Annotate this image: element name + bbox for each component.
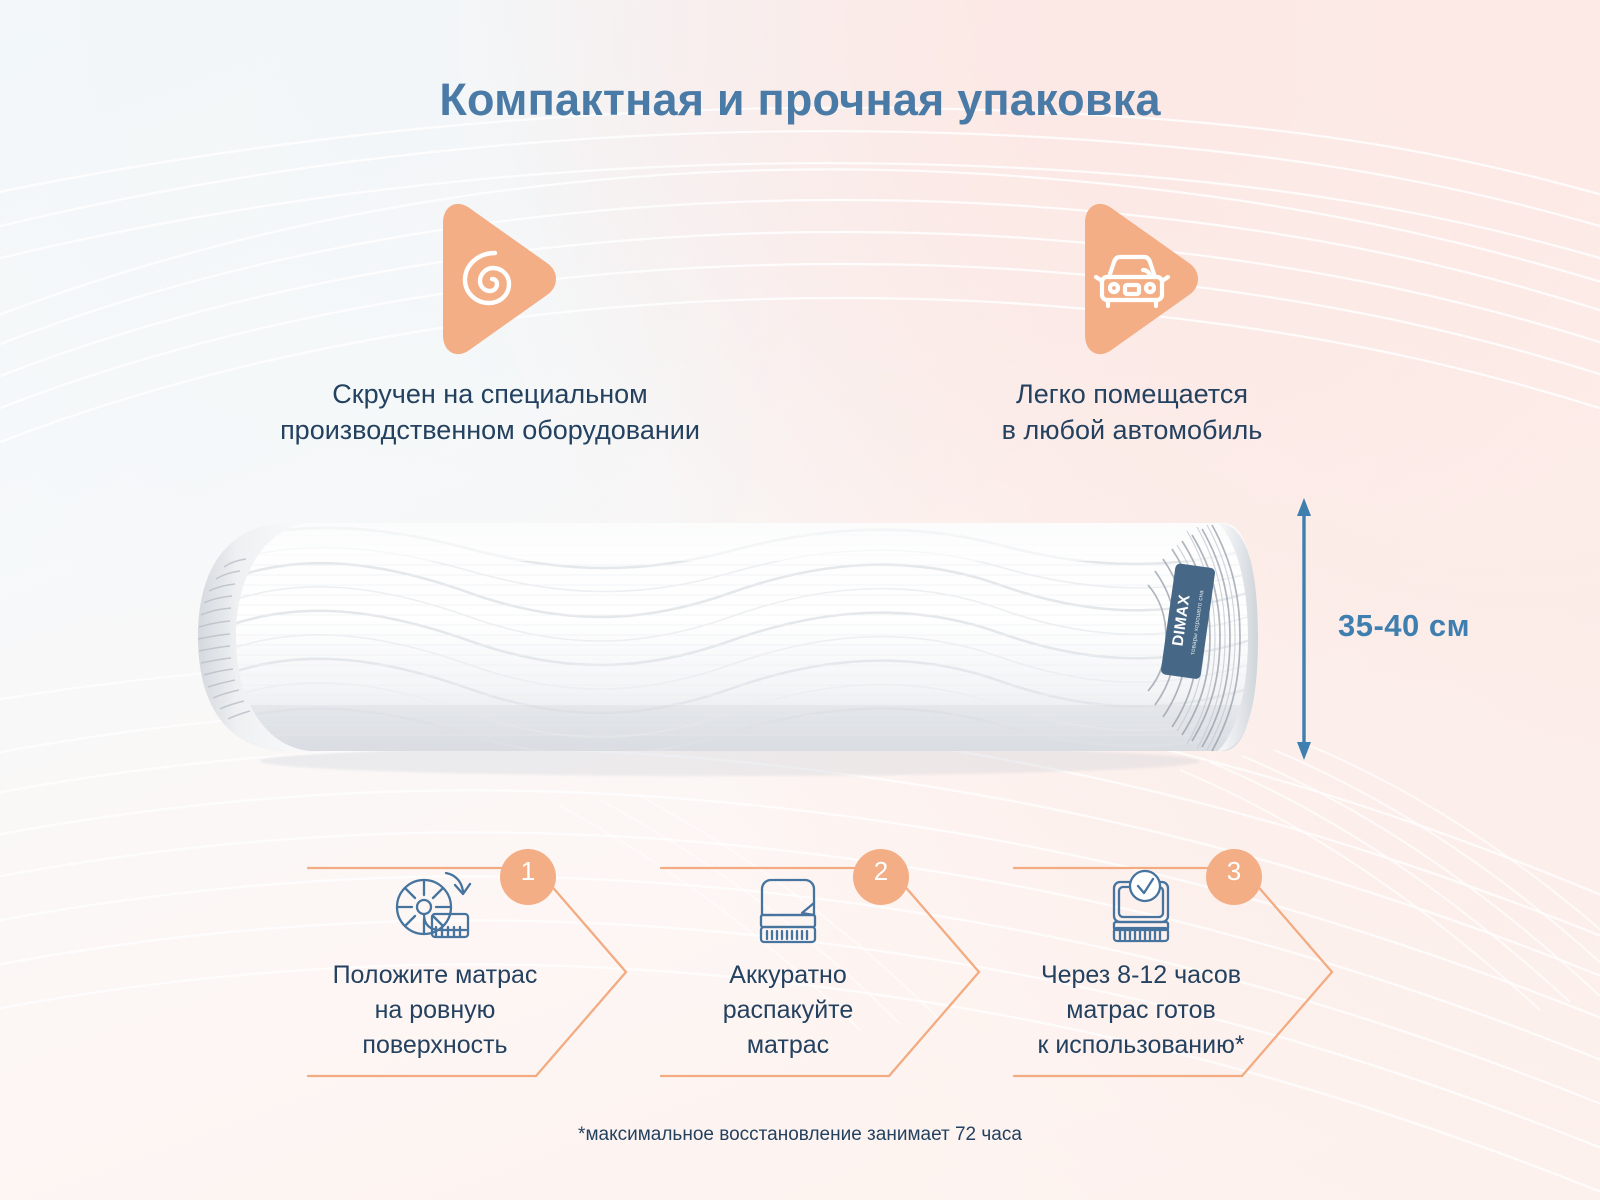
feature-block-car: Легко помещается в любой автомобиль xyxy=(930,196,1334,448)
mattress-unpack-icon xyxy=(653,868,923,950)
feature-caption: Скручен на специальном производственном … xyxy=(228,376,752,448)
dimension-arrow-icon xyxy=(1292,498,1316,760)
dimension-label: 35-40 см xyxy=(1338,608,1470,644)
footnote-text: *максимальное восстановление занимает 72… xyxy=(0,1124,1600,1146)
step-text: Положите матрас на ровную поверхность xyxy=(272,958,598,1063)
feature-icon-wrap xyxy=(930,196,1334,362)
step-card-1: 1 Положите матрас на ро xyxy=(300,846,640,1088)
feature-block-rolled: Скручен на специальном производственном … xyxy=(228,196,752,448)
step-card-2: 2 Аккуратно распакуйте матрас xyxy=(653,846,993,1088)
steps-row: 1 Положите матрас на ро xyxy=(300,846,1270,1088)
feature-caption: Легко помещается в любой автомобиль xyxy=(930,376,1334,448)
infographic-page: Компактная и прочная упаковка Скручен на… xyxy=(0,0,1600,1200)
rolled-mattress-unroll-icon xyxy=(300,868,570,950)
rolled-mattress-image: DIMAX товары хорошего сна xyxy=(170,495,1280,780)
page-title: Компактная и прочная упаковка xyxy=(0,74,1600,126)
car-front-icon xyxy=(1059,201,1205,357)
step-text: Через 8-12 часов матрас готов к использо… xyxy=(978,958,1304,1063)
step-card-3: 3 Через 8-12 часов матрас готов к исполь… xyxy=(1006,846,1346,1088)
spiral-roll-icon xyxy=(417,201,563,357)
mattress-check-icon xyxy=(1006,868,1276,950)
step-text: Аккуратно распакуйте матрас xyxy=(625,958,951,1063)
feature-icon-wrap xyxy=(228,196,752,362)
